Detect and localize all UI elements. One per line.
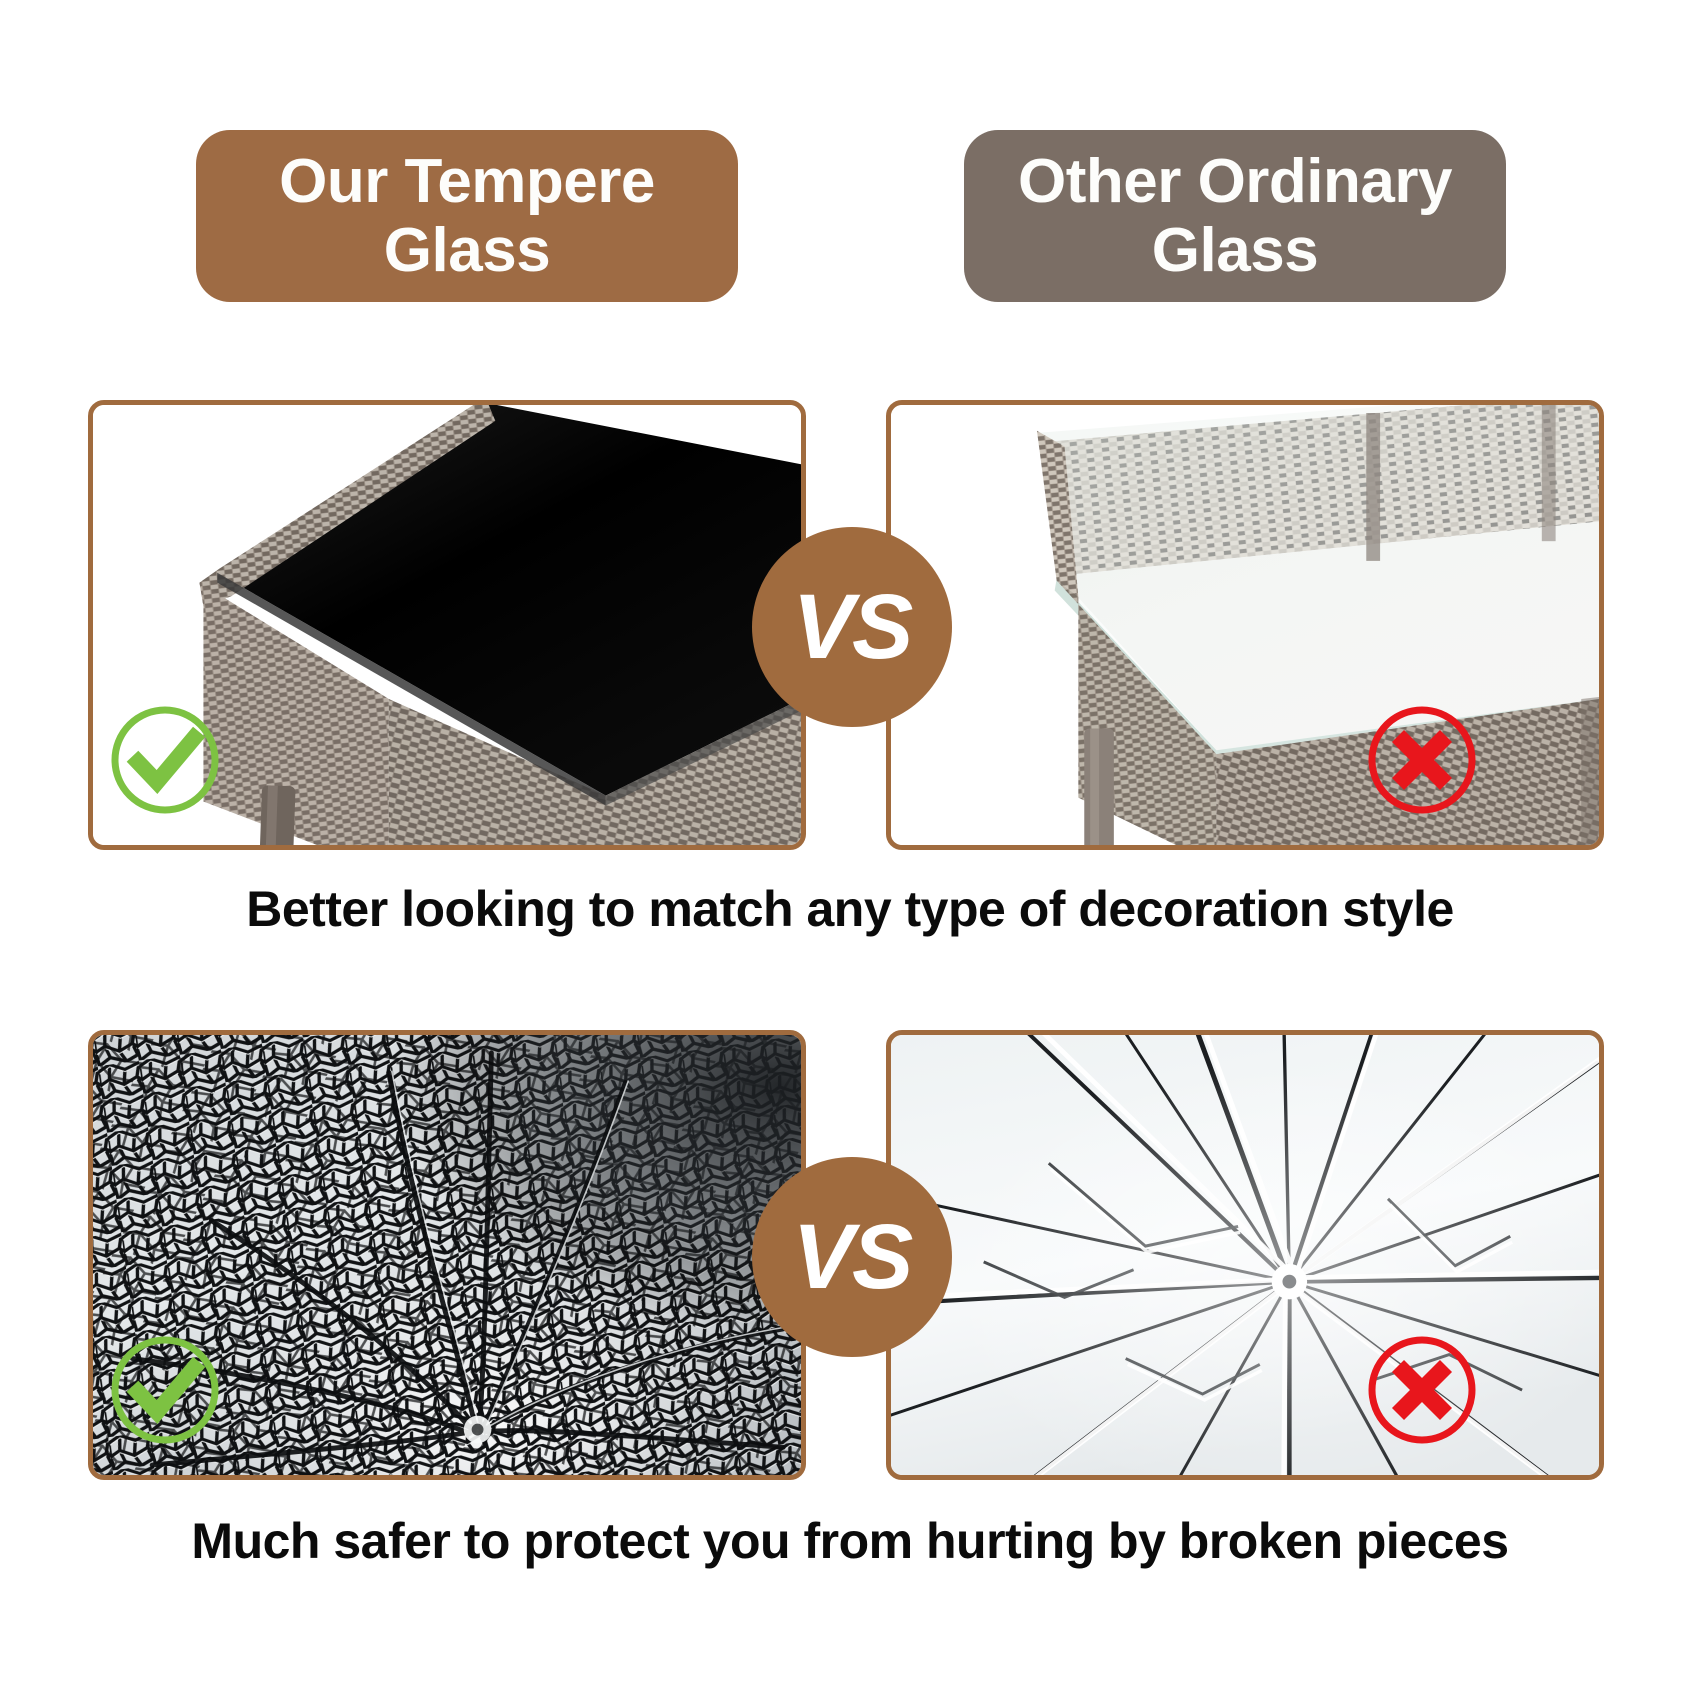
vs-badge-bottom: VS — [752, 1157, 952, 1357]
header-pill-our-tempered-glass: Our Tempere Glass — [196, 130, 738, 302]
x-icon-other-glass-safety — [1364, 1332, 1480, 1448]
comparison-infographic: Our Tempere Glass Other Ordinary Glass — [0, 0, 1700, 1700]
check-icon-our-glass-safety — [107, 1332, 223, 1448]
header-ours-line2: Glass — [279, 216, 655, 285]
x-icon-other-glass-appearance — [1364, 702, 1480, 818]
vs-badge-top: VS — [752, 527, 952, 727]
header-other-line2: Glass — [1018, 216, 1452, 285]
header-pill-other-ordinary-glass: Other Ordinary Glass — [964, 130, 1506, 302]
ordinary-glass-shatter-image — [891, 1035, 1599, 1475]
header-other-line1: Other Ordinary — [1018, 147, 1452, 216]
check-icon-our-glass-appearance — [107, 702, 223, 818]
vs-label: VS — [793, 575, 912, 680]
caption-appearance: Better looking to match any type of deco… — [0, 880, 1700, 938]
photo-frame-ordinary-glass-shattered — [886, 1030, 1604, 1480]
header-ours-line1: Our Tempere — [279, 147, 655, 216]
rattan-table-clear-glass-image — [891, 405, 1599, 845]
photo-frame-other-glass-table — [886, 400, 1604, 850]
vs-label-bottom: VS — [793, 1205, 912, 1310]
caption-safety: Much safer to protect you from hurting b… — [0, 1512, 1700, 1570]
